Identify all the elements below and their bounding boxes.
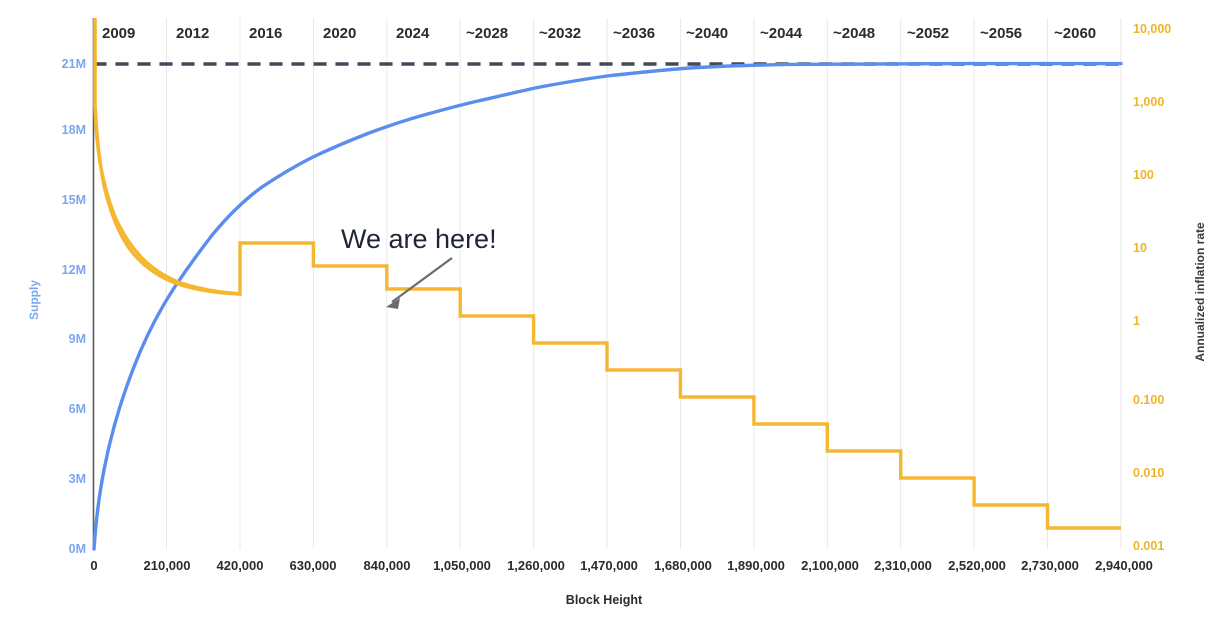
top-tick-9: ~2044 bbox=[760, 25, 803, 42]
bottom-tick-5: 1,050,000 bbox=[433, 558, 491, 573]
top-tick-10: ~2048 bbox=[833, 25, 875, 42]
top-tick-4: 2024 bbox=[396, 25, 430, 42]
bottom-tick-6: 1,260,000 bbox=[507, 558, 565, 573]
top-tick-6: ~2032 bbox=[539, 25, 581, 42]
bottom-tick-0: 0 bbox=[90, 558, 97, 573]
right-tick-0001: 0.001 bbox=[1133, 539, 1164, 553]
right-tick-0100: 0.100 bbox=[1133, 393, 1164, 407]
right-tick-10000: 10,000 bbox=[1133, 22, 1171, 36]
left-tick-1: 3M bbox=[69, 472, 86, 486]
bottom-tick-11: 2,310,000 bbox=[874, 558, 932, 573]
top-tick-7: ~2036 bbox=[613, 25, 655, 42]
left-tick-7: 21M bbox=[62, 57, 86, 71]
chart-svg: We are here! 2009 2012 2016 2020 2024 ~2… bbox=[0, 0, 1232, 630]
right-tick-0010: 0.010 bbox=[1133, 466, 1164, 480]
left-tick-3: 9M bbox=[69, 332, 86, 346]
bottom-tick-8: 1,680,000 bbox=[654, 558, 712, 573]
right-y-axis-title: Annualized inflation rate bbox=[1193, 222, 1207, 362]
bottom-tick-10: 2,100,000 bbox=[801, 558, 859, 573]
left-tick-5: 15M bbox=[62, 193, 86, 207]
bitcoin-supply-inflation-chart: We are here! 2009 2012 2016 2020 2024 ~2… bbox=[0, 0, 1232, 630]
top-tick-11: ~2052 bbox=[907, 25, 949, 42]
top-tick-8: ~2040 bbox=[686, 25, 728, 42]
top-tick-13: ~2060 bbox=[1054, 25, 1096, 42]
top-tick-2: 2016 bbox=[249, 25, 282, 42]
bottom-tick-1: 210,000 bbox=[144, 558, 191, 573]
bottom-tick-4: 840,000 bbox=[364, 558, 411, 573]
top-tick-5: ~2028 bbox=[466, 25, 508, 42]
right-tick-10: 10 bbox=[1133, 241, 1147, 255]
bottom-tick-13: 2,730,000 bbox=[1021, 558, 1079, 573]
bottom-tick-2: 420,000 bbox=[217, 558, 264, 573]
top-tick-1: 2012 bbox=[176, 25, 209, 42]
bottom-tick-9: 1,890,000 bbox=[727, 558, 785, 573]
top-tick-0: 2009 bbox=[102, 25, 135, 42]
right-tick-100: 100 bbox=[1133, 168, 1154, 182]
left-tick-2: 6M bbox=[69, 402, 86, 416]
bottom-tick-3: 630,000 bbox=[290, 558, 337, 573]
annotation-label: We are here! bbox=[341, 224, 497, 254]
left-tick-6: 18M bbox=[62, 123, 86, 137]
right-tick-1000: 1,000 bbox=[1133, 95, 1164, 109]
left-tick-0: 0M bbox=[69, 542, 86, 556]
bottom-tick-12: 2,520,000 bbox=[948, 558, 1006, 573]
top-tick-3: 2020 bbox=[323, 25, 356, 42]
right-tick-1: 1 bbox=[1133, 314, 1140, 328]
left-tick-4: 12M bbox=[62, 263, 86, 277]
bottom-tick-7: 1,470,000 bbox=[580, 558, 638, 573]
bottom-axis-ticks: 0 210,000 420,000 630,000 840,000 1,050,… bbox=[90, 558, 1153, 573]
x-axis-title: Block Height bbox=[566, 593, 643, 607]
top-tick-12: ~2056 bbox=[980, 25, 1022, 42]
left-y-axis-title: Supply bbox=[27, 280, 41, 320]
bottom-tick-14: 2,940,000 bbox=[1095, 558, 1153, 573]
